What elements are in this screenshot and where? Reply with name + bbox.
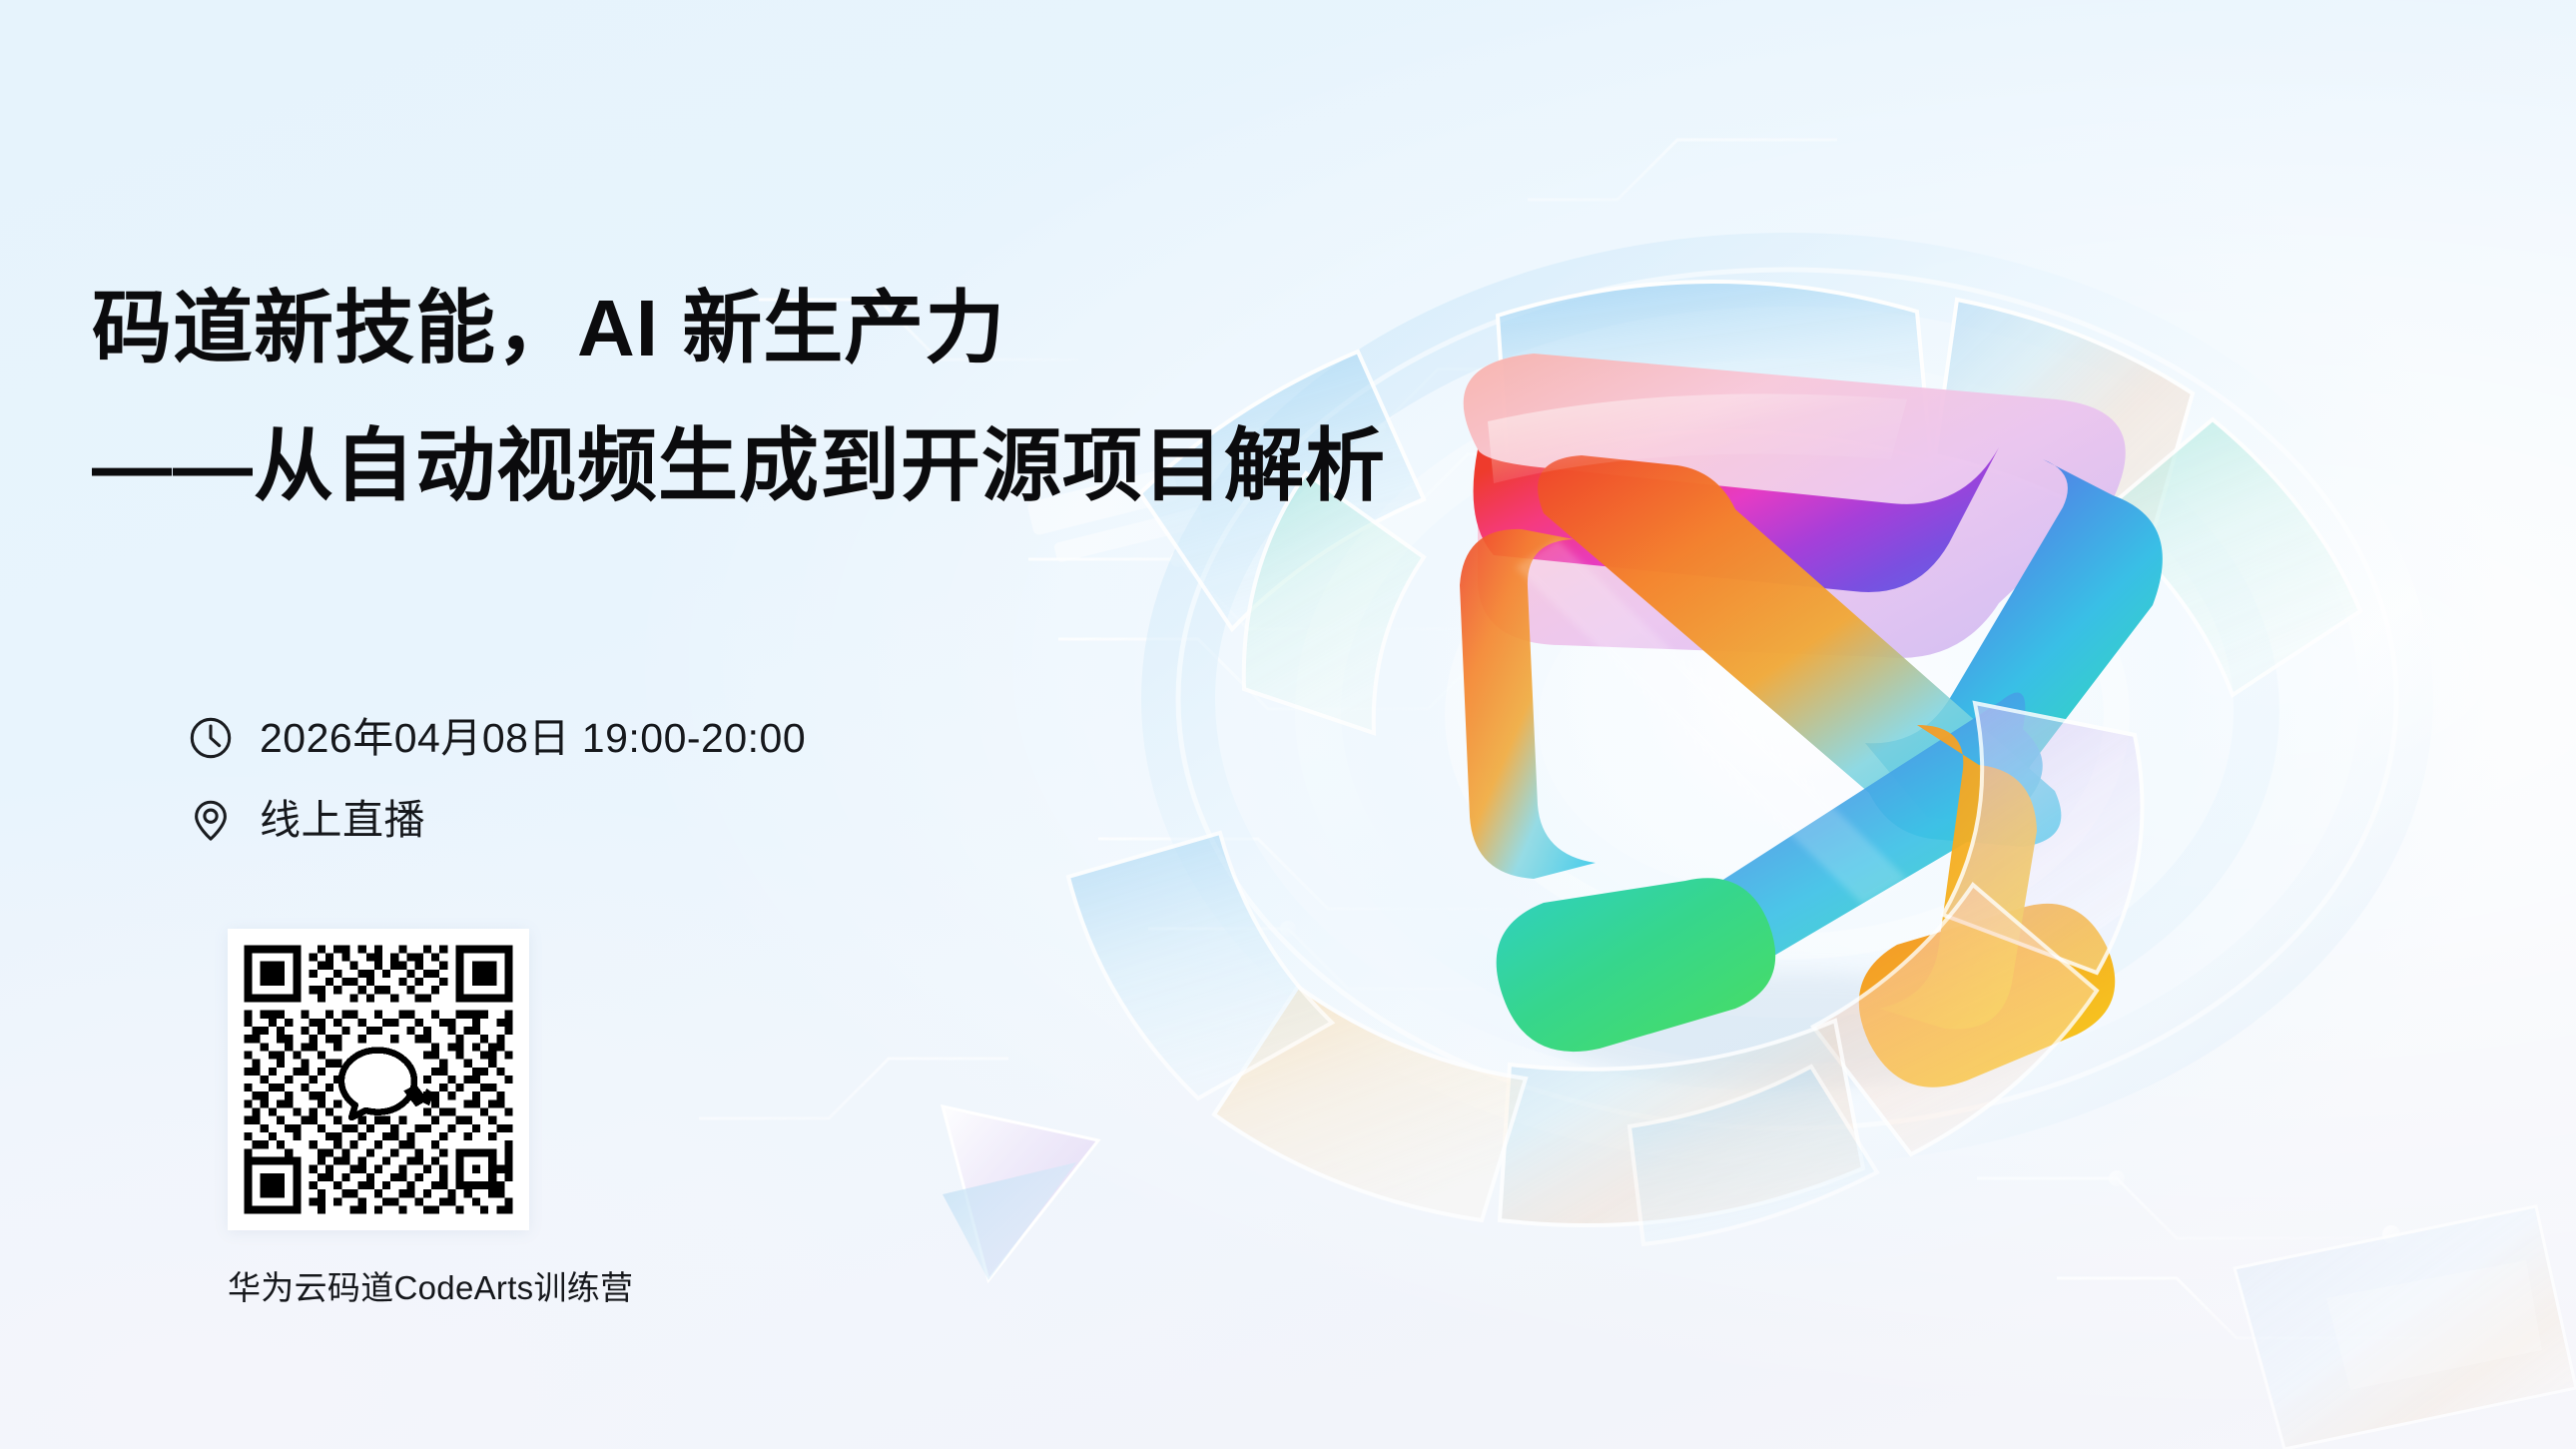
headline-line-1: 码道新技能，AI 新生产力 (92, 282, 1005, 375)
promo-banner: 码道新技能，AI 新生产力 ——从自动视频生成到开源项目解析 2026年04月0… (0, 0, 2576, 1449)
event-time-row: 2026年04月08日 19:00-20:00 (188, 715, 806, 761)
rainbow-ribbon (1460, 354, 2163, 1087)
event-time-text: 2026年04月08日 19:00-20:00 (260, 718, 806, 759)
qr-code[interactable] (228, 929, 529, 1230)
location-pin-icon (188, 797, 234, 843)
headline-line-2: ——从自动视频生成到开源项目解析 (92, 419, 1386, 513)
qr-caption: 华为云码道CodeArts训练营 (228, 1261, 529, 1309)
event-place-text: 线上直播 (260, 800, 425, 841)
clock-icon (188, 715, 234, 761)
glass-shard-bottom-right (2235, 1206, 2576, 1449)
event-place-row: 线上直播 (188, 797, 425, 843)
content-column: 码道新技能，AI 新生产力 ——从自动视频生成到开源项目解析 2026年04月0… (92, 0, 1430, 1449)
